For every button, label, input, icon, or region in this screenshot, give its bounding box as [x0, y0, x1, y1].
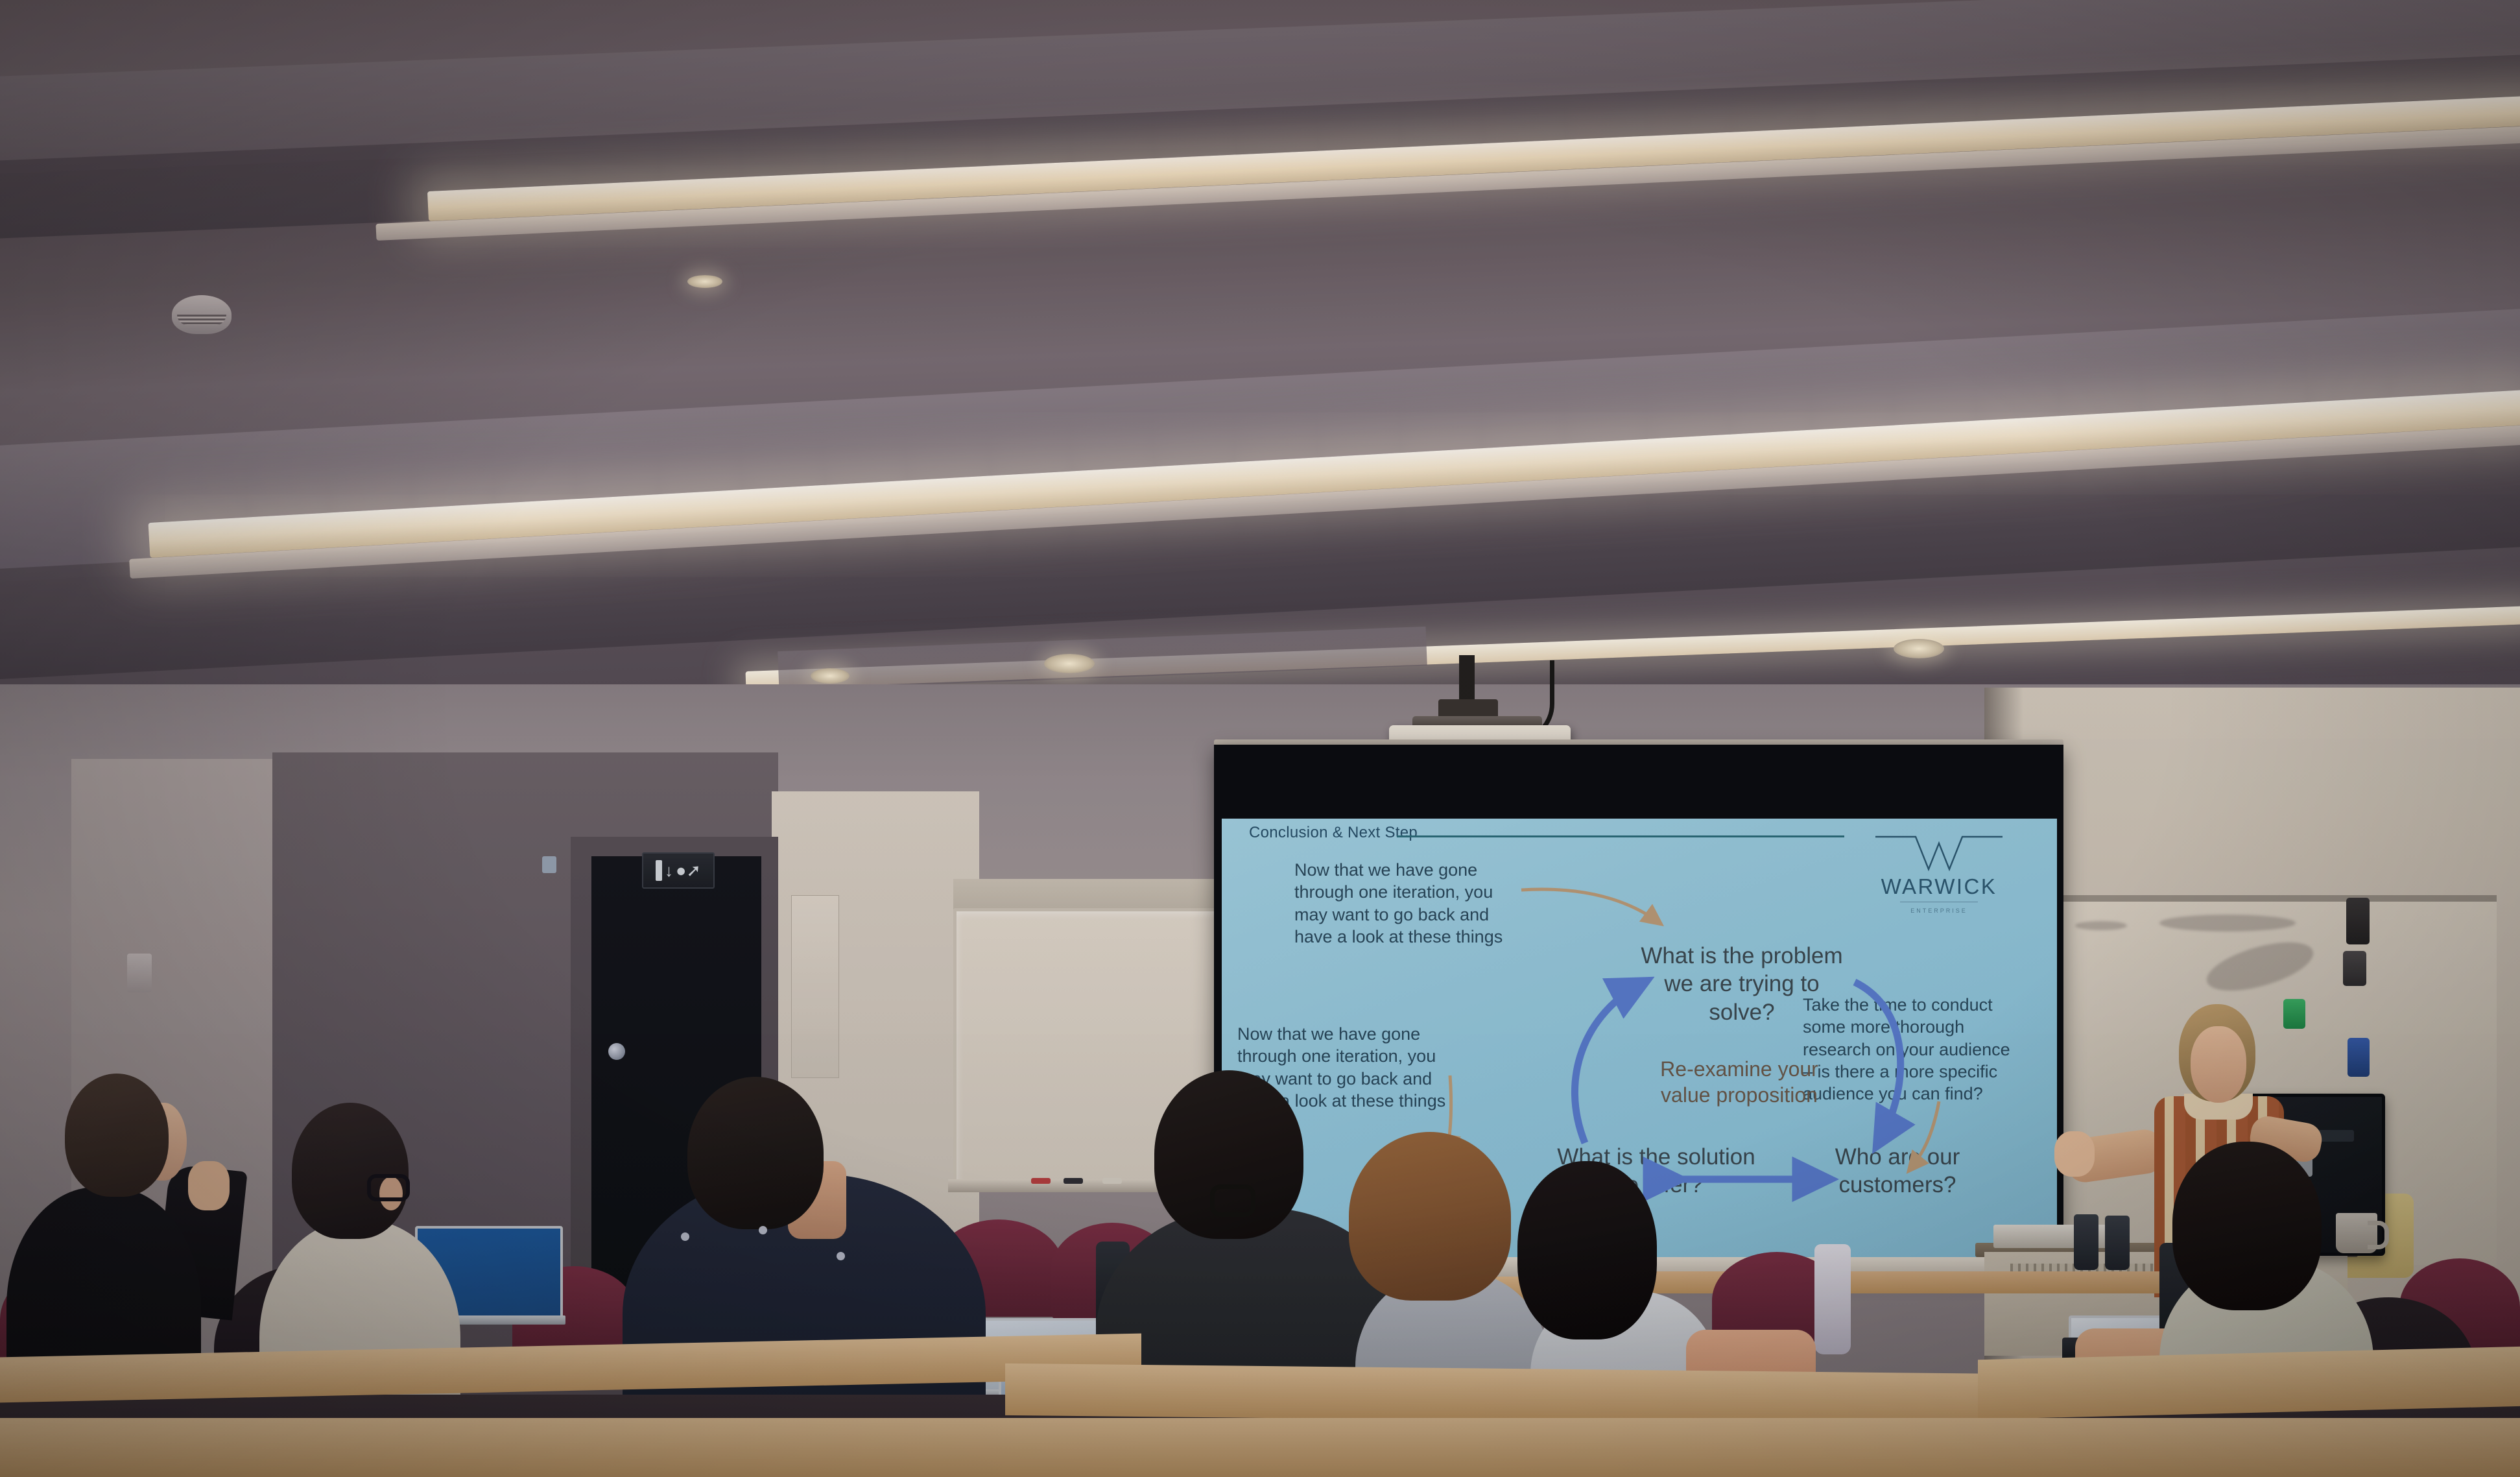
lecture-room-photo: ↓ ●➚ Conclusion & Next Step WARWICK ENTE… — [0, 0, 2520, 1477]
wall-sensor — [542, 856, 556, 873]
arrow-callout-to-problem — [1521, 889, 1659, 922]
ceiling-downlight-5 — [687, 275, 722, 288]
projector-mount-pole — [1459, 655, 1475, 702]
warwick-logo: WARWICK ENTERPRISE — [1874, 833, 2004, 914]
ceiling-downlight-2 — [1894, 639, 1944, 658]
light-switch[interactable] — [127, 954, 152, 992]
magnet-dark-2[interactable] — [2346, 898, 2370, 944]
audience-1-head — [65, 1074, 169, 1197]
warwick-logo-divider — [1900, 902, 1978, 902]
audience-2-head — [292, 1103, 409, 1239]
exit-door-glyph — [656, 860, 662, 881]
whiteboard-smudge-2 — [2159, 915, 2296, 931]
slide-title: Conclusion & Next Step — [1249, 824, 1418, 842]
warwick-wordmark: WARWICK — [1874, 874, 2004, 899]
warwick-chevron-icon — [1874, 833, 2004, 873]
whiteboard-smudge-1 — [2075, 921, 2127, 930]
podium-bottle-1[interactable] — [2074, 1214, 2098, 1270]
audience-2-glasses — [367, 1174, 410, 1201]
smoke-detector-icon — [172, 295, 232, 334]
whiteboard-marker-red[interactable] — [1031, 1178, 1051, 1184]
audience-6-hair — [1517, 1161, 1657, 1339]
audience-3-head — [687, 1077, 824, 1229]
slide-callout-top-left: Now that we have gone through one iterat… — [1294, 859, 1521, 948]
exit-running-person-icon: ●➚ — [676, 862, 701, 880]
warwick-logo-sub: ENTERPRISE — [1874, 907, 2004, 914]
cycle-node-problem: What is the problem we are trying to sol… — [1632, 942, 1852, 1026]
ceiling-downlight-3 — [811, 668, 850, 684]
water-bottle-2[interactable] — [1814, 1244, 1851, 1354]
whiteboard-left-header — [953, 879, 1219, 910]
audience-3-shirt-dot-3 — [837, 1252, 845, 1260]
magnet-green[interactable] — [2283, 999, 2305, 1029]
whiteboard-eraser[interactable] — [1102, 1178, 1122, 1184]
coffee-mug[interactable] — [2336, 1213, 2377, 1253]
wall-panel — [791, 895, 839, 1078]
magnet-blue[interactable] — [2348, 1038, 2370, 1077]
presenter-face — [2191, 1026, 2246, 1103]
slide-center-label: Re-examine your value proposition — [1635, 1056, 1843, 1108]
slide-title-rule — [1397, 835, 1844, 837]
ceiling-downlight-1 — [1044, 654, 1095, 673]
audience-4-glasses — [1210, 1184, 1255, 1217]
exit-arrow-icon: ↓ — [665, 862, 673, 879]
magnet-dark-1[interactable] — [2343, 951, 2366, 986]
door-handle[interactable] — [608, 1043, 625, 1060]
audience-7-hair — [2172, 1142, 2322, 1310]
exit-sign: ↓ ●➚ — [642, 852, 715, 889]
cycle-node-customers: Who are our customers? — [1800, 1143, 1995, 1199]
audience-3-shirt-dot-1 — [681, 1232, 689, 1241]
presenter-left-hand — [2054, 1131, 2095, 1177]
front-desk-center — [1005, 1363, 2017, 1426]
front-desk-nearest — [0, 1418, 2520, 1477]
podium-bottle-2[interactable] — [2105, 1216, 2130, 1270]
audience-5-hair — [1349, 1132, 1511, 1301]
whiteboard-marker-black[interactable] — [1064, 1178, 1083, 1184]
desk-row-mid-right — [1595, 1271, 2244, 1293]
audience-1-hand — [188, 1161, 230, 1210]
audience-3-shirt-dot-2 — [759, 1226, 767, 1234]
